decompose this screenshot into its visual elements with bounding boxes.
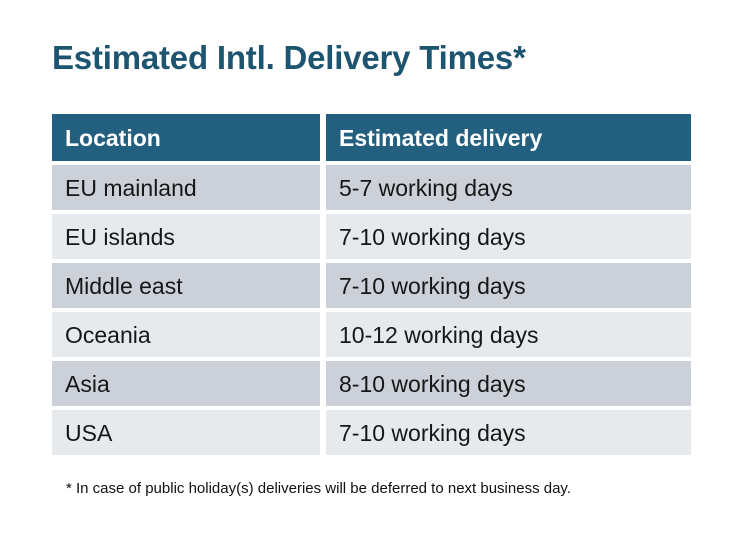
cell-location: Asia	[52, 361, 320, 406]
cell-delivery: 7-10 working days	[326, 410, 691, 455]
cell-location: Oceania	[52, 312, 320, 357]
table-row: EU islands 7-10 working days	[52, 214, 691, 259]
delivery-times-card: Estimated Intl. Delivery Times* Location…	[0, 0, 745, 536]
column-header-estimated-delivery: Estimated delivery	[326, 114, 691, 161]
table-row: USA 7-10 working days	[52, 410, 691, 455]
cell-location: EU islands	[52, 214, 320, 259]
cell-delivery: 8-10 working days	[326, 361, 691, 406]
cell-location: USA	[52, 410, 320, 455]
cell-delivery: 7-10 working days	[326, 263, 691, 308]
column-header-location: Location	[52, 114, 320, 161]
table-row: Oceania 10-12 working days	[52, 312, 691, 357]
cell-delivery: 7-10 working days	[326, 214, 691, 259]
table-header-row: Location Estimated delivery	[52, 114, 691, 161]
cell-delivery: 10-12 working days	[326, 312, 691, 357]
table-row: Middle east 7-10 working days	[52, 263, 691, 308]
page-title: Estimated Intl. Delivery Times*	[52, 36, 526, 80]
cell-delivery: 5-7 working days	[326, 165, 691, 210]
delivery-times-table: Location Estimated delivery EU mainland …	[52, 114, 691, 455]
cell-location: Middle east	[52, 263, 320, 308]
table-row: Asia 8-10 working days	[52, 361, 691, 406]
footnote: * In case of public holiday(s) deliverie…	[66, 479, 571, 499]
cell-location: EU mainland	[52, 165, 320, 210]
table-row: EU mainland 5-7 working days	[52, 165, 691, 210]
